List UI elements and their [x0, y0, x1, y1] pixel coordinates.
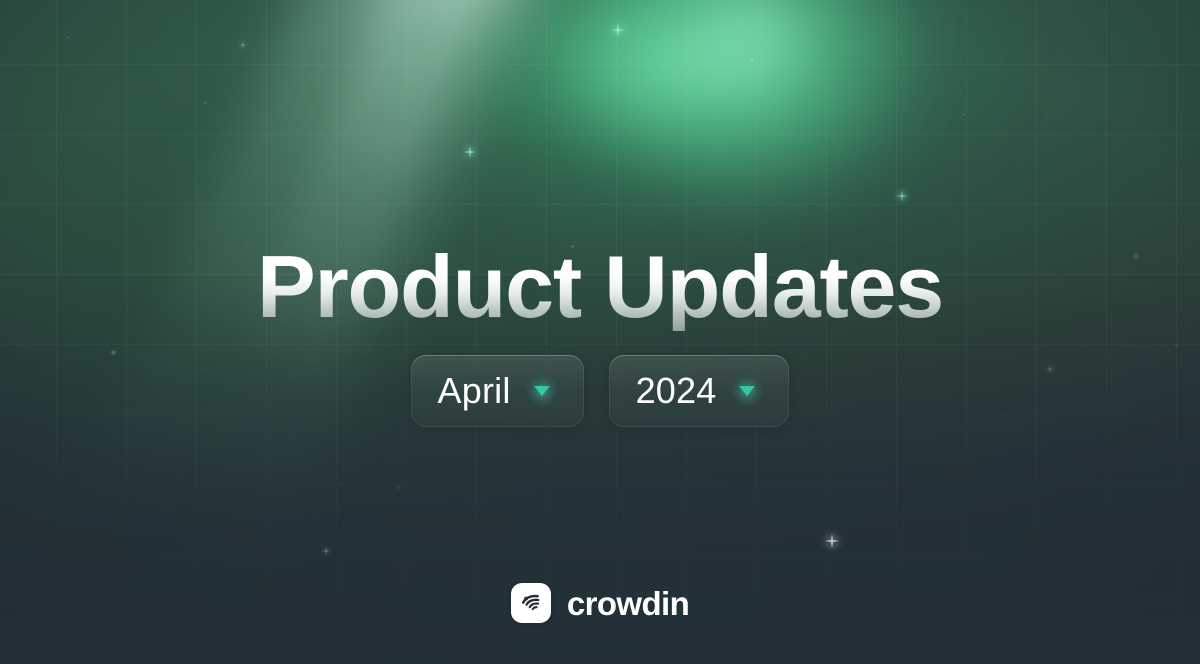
month-selector[interactable]: April — [411, 355, 584, 427]
year-selector-label: 2024 — [636, 373, 717, 409]
year-selector[interactable]: 2024 — [609, 355, 790, 427]
chevron-down-icon[interactable] — [527, 376, 557, 406]
product-updates-hero: Product Updates April 2024 — [0, 0, 1200, 664]
chevron-triangle — [739, 386, 755, 396]
crowdin-logo[interactable]: crowdin — [0, 583, 1200, 623]
page-title: Product Updates — [0, 243, 1200, 331]
chevron-down-icon[interactable] — [732, 376, 762, 406]
hero-content: Product Updates April 2024 — [0, 0, 1200, 664]
crowdin-wordmark: crowdin — [567, 587, 689, 620]
crowdin-logo-icon — [511, 583, 551, 623]
date-selectors: April 2024 — [0, 355, 1200, 427]
month-selector-label: April — [438, 373, 511, 409]
chevron-triangle — [534, 386, 550, 396]
